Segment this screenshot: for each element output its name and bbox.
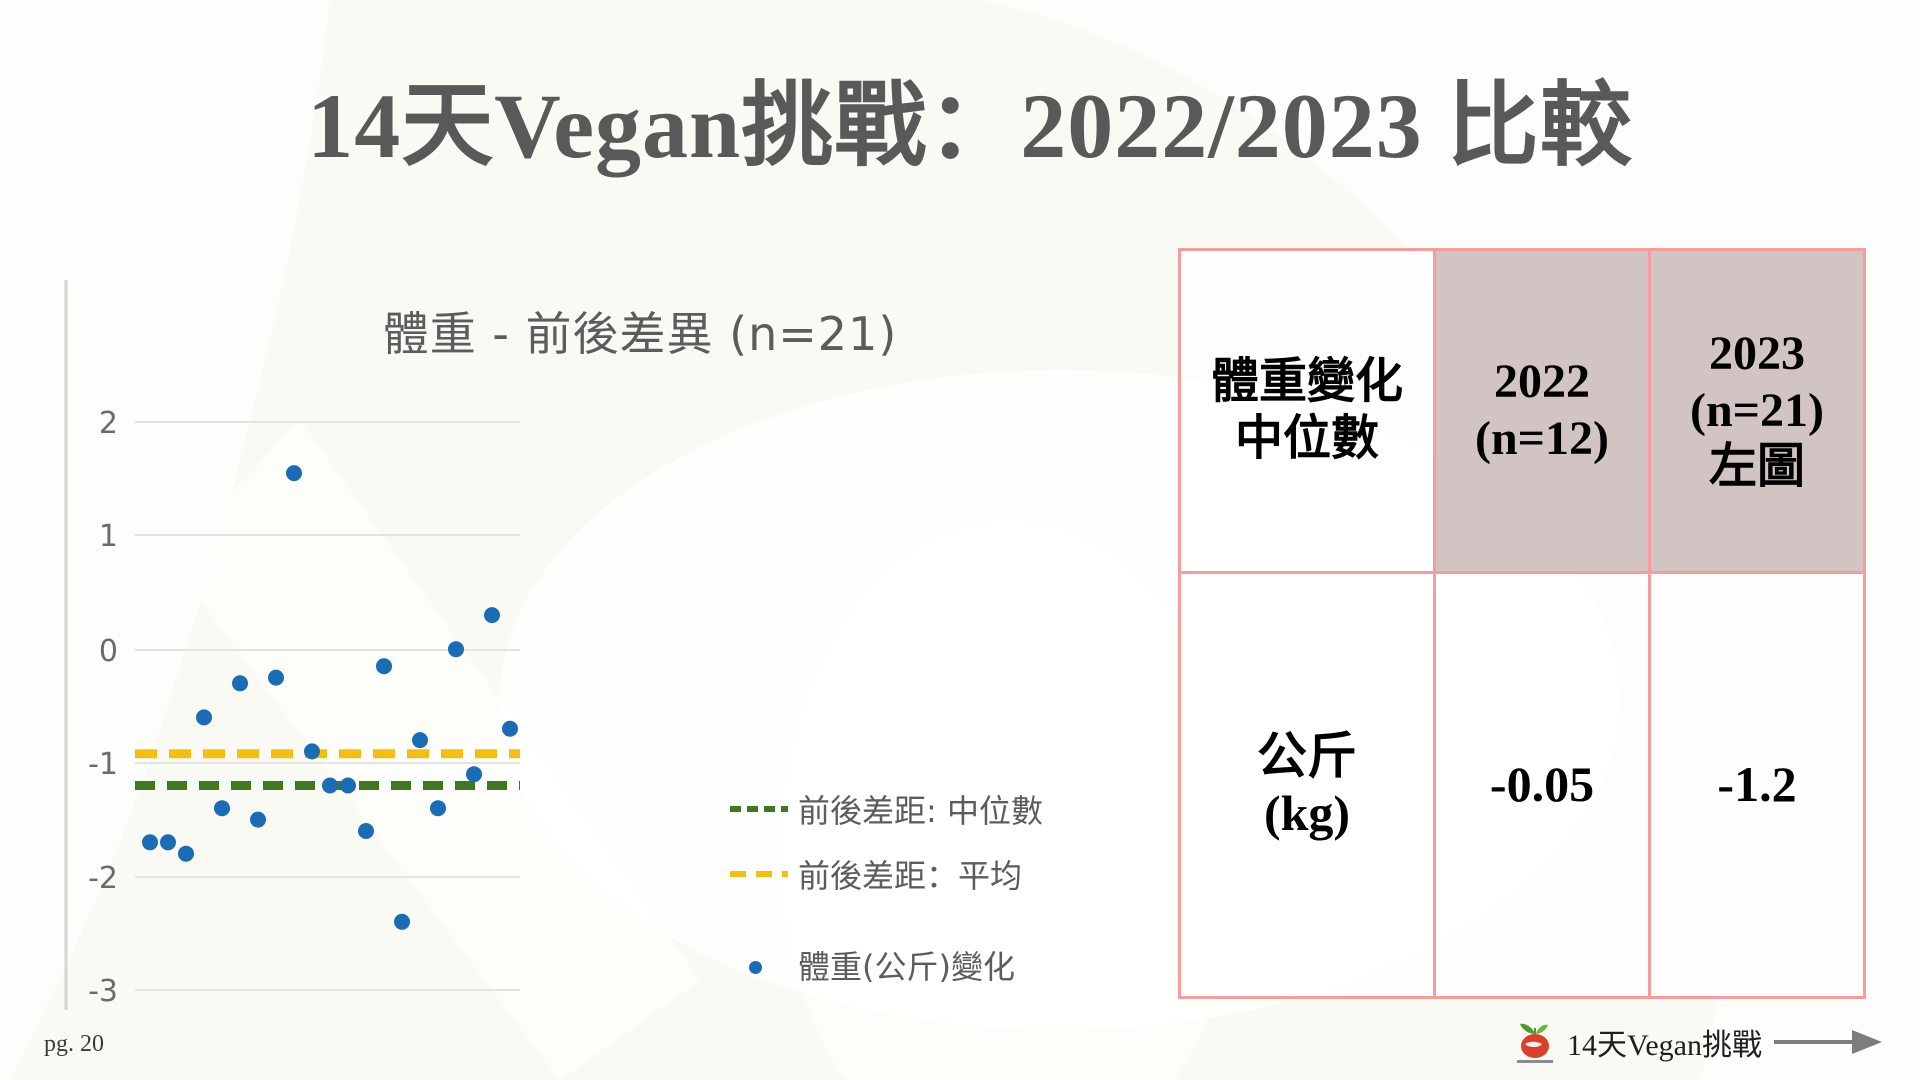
table-header-row: 體重變化 中位數 2022 (n=12) 2023 (n=21) 左圖 <box>1180 250 1865 573</box>
scatter-point <box>466 766 482 782</box>
green-dashed-line-icon <box>730 792 788 826</box>
y-tick-2: 2 <box>99 406 118 441</box>
table-header-metric: 體重變化 中位數 <box>1180 250 1435 573</box>
scatter-point <box>484 607 500 623</box>
table-row-label-line1: 公斤 <box>1182 728 1432 786</box>
scatter-point <box>322 778 338 794</box>
scatter-point <box>448 641 464 657</box>
comparison-table: 體重變化 中位數 2022 (n=12) 2023 (n=21) 左圖 公斤 (… <box>1178 248 1866 999</box>
footer-brand-label: 14天Vegan挑戰 <box>1567 1020 1762 1064</box>
scatter-point <box>286 465 302 481</box>
table-cell-2022-value: -0.05 <box>1435 573 1650 998</box>
chart-legend: 前後差距: 中位數 前後差距：平均 體重(公斤)變化 <box>730 792 1150 1013</box>
scatter-point <box>358 823 374 839</box>
y-axis-tick-labels: 2 1 0 -1 -2 -3 <box>88 406 118 1009</box>
legend-label-median: 前後差距: 中位數 <box>798 792 1043 831</box>
scatter-point <box>250 812 266 828</box>
scatter-point <box>214 800 230 816</box>
table-row-label-line2: (kg) <box>1182 785 1432 843</box>
gridlines <box>135 422 520 990</box>
legend-item-mean[interactable]: 前後差距：平均 <box>730 857 1150 896</box>
y-tick-neg3: -3 <box>88 974 118 1009</box>
scatter-point <box>232 675 248 691</box>
scatter-point <box>430 800 446 816</box>
table-header-metric-line1: 體重變化 <box>1182 354 1432 411</box>
table-header-metric-line2: 中位數 <box>1182 411 1432 468</box>
y-tick-neg1: -1 <box>88 747 118 782</box>
scatter-point <box>394 914 410 930</box>
right-arrow-icon <box>1774 1025 1884 1059</box>
weight-difference-scatter-chart: 體重 - 前後差異 (n=21) 2 1 0 -1 -2 -3 <box>40 280 1140 1020</box>
tomato-sprout-logo-icon <box>1515 1020 1555 1064</box>
table-header-2022-n: (n=12) <box>1437 411 1647 468</box>
scatter-point <box>142 834 158 850</box>
table-header-2022-year: 2022 <box>1437 354 1647 411</box>
yellow-dashed-line-icon <box>730 857 788 891</box>
blue-dot-icon <box>730 948 788 982</box>
legend-item-median[interactable]: 前後差距: 中位數 <box>730 792 1150 831</box>
y-tick-1: 1 <box>99 519 118 554</box>
legend-item-points[interactable]: 體重(公斤)變化 <box>730 948 1150 987</box>
table-cell-2023-value: -1.2 <box>1650 573 1865 998</box>
scatter-point <box>340 778 356 794</box>
scatter-point <box>196 709 212 725</box>
scatter-point <box>160 834 176 850</box>
scatter-point <box>268 670 284 686</box>
y-tick-neg2: -2 <box>88 861 118 896</box>
table-row: 公斤 (kg) -0.05 -1.2 <box>1180 573 1865 998</box>
scatter-point <box>178 846 194 862</box>
table-header-2022: 2022 (n=12) <box>1435 250 1650 573</box>
table-header-2023-year: 2023 <box>1652 326 1862 383</box>
table-header-2023-note: 左圖 <box>1652 439 1862 496</box>
table-header-2023: 2023 (n=21) 左圖 <box>1650 250 1865 573</box>
scatter-point <box>502 721 518 737</box>
page-title: 14天Vegan挑戰：2022/2023 比較 <box>70 78 1870 175</box>
legend-label-mean: 前後差距：平均 <box>798 857 1022 896</box>
footer-brand: 14天Vegan挑戰 <box>1515 1020 1884 1064</box>
legend-label-points: 體重(公斤)變化 <box>798 948 1015 987</box>
table-row-label-unit: 公斤 (kg) <box>1180 573 1435 998</box>
y-tick-0: 0 <box>99 634 118 669</box>
table-header-2023-n: (n=21) <box>1652 383 1862 440</box>
page-number: pg. 20 <box>44 1031 104 1058</box>
scatter-point <box>304 743 320 759</box>
scatter-point <box>376 658 392 674</box>
scatter-point <box>412 732 428 748</box>
